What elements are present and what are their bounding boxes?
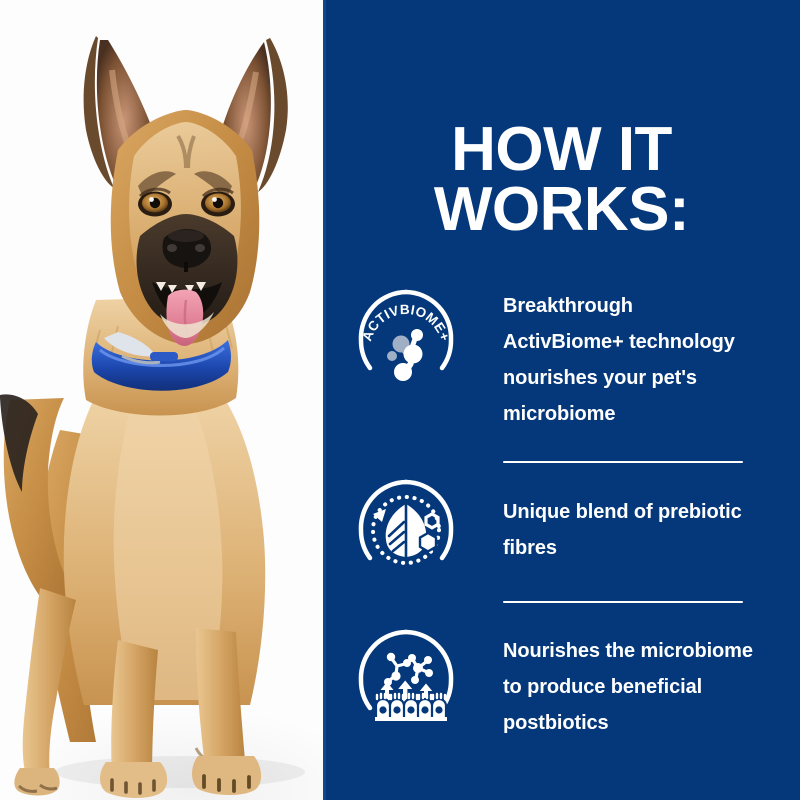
- german-shepherd-dog-image: [0, 0, 323, 800]
- feature-text-postbiotics: Nourishes the microbiome to produce bene…: [456, 628, 786, 741]
- page-title: HOW IT WORKS:: [323, 120, 800, 240]
- hexagon-small-icon: [426, 514, 438, 528]
- divider-1: [503, 461, 743, 463]
- feature-row-prebiotic: Unique blend of prebiotic fibres: [356, 478, 786, 588]
- how-it-works-poster: HOW IT WORKS: ACTIVBIOME+: [0, 0, 800, 800]
- activbiome-plus-logo-icon: ACTIVBIOME+: [356, 288, 456, 400]
- microbiome-postbiotics-gut-icon: [356, 628, 456, 738]
- divider-2: [503, 601, 743, 603]
- info-panel: HOW IT WORKS: ACTIVBIOME+: [323, 0, 800, 800]
- feature-row-activbiome: ACTIVBIOME+ Breakthrough Activ: [356, 288, 786, 432]
- gut-cell-row: [375, 694, 447, 721]
- molecule-cluster: [387, 329, 423, 381]
- dog-photo-panel: [0, 0, 323, 800]
- hexagon-large-icon: [420, 533, 436, 551]
- molecule-left: [384, 653, 411, 686]
- feature-text-prebiotic: Unique blend of prebiotic fibres: [456, 478, 786, 566]
- feature-text-activbiome: Breakthrough ActivBiome+ technology nour…: [456, 288, 786, 432]
- prebiotic-fibre-leaf-icon: [356, 478, 456, 588]
- molecule-right: [408, 654, 433, 684]
- feature-row-postbiotics: Nourishes the microbiome to produce bene…: [356, 628, 786, 741]
